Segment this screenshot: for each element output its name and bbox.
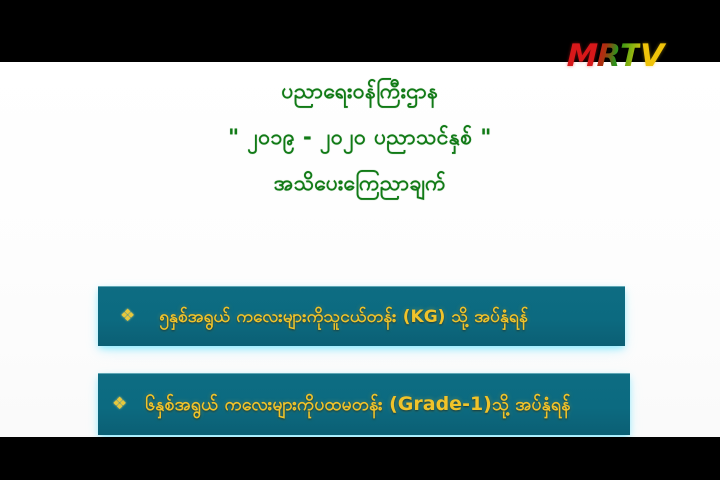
- logo-letter-t: T: [619, 41, 640, 72]
- announcement-heading: ပညာရေးဝန်ကြီးဌာန " ၂၀၁၉ - ၂၀၂၀ ပညာသင်နှစ…: [0, 76, 720, 198]
- heading-line-announcement: အသိပေးကြေညာချက်: [0, 168, 720, 198]
- logo-letter-r: R: [596, 41, 620, 72]
- diamond-bullet-icon: ❖: [120, 308, 135, 325]
- bullet-box-kg: ❖ ၅နှစ်အရွယ် ကလေးများကိုသူငယ်တန်း (KG) သ…: [98, 286, 625, 346]
- bullet-text-kg-before: ၅နှစ်အရွယ် ကလေးများကိုသူငယ်တန်း: [159, 307, 403, 327]
- heading-line-academic-year: " ၂၀၁၉ - ၂၀၂၀ ပညာသင်နှစ် ": [0, 122, 720, 152]
- heading-line-ministry: ပညာရေးဝန်ကြီးဌာန: [0, 76, 720, 106]
- bullet-text-grade1-after: သို့ အပ်နှံရန်: [492, 395, 571, 415]
- mrtv-channel-logo: MRTV: [566, 41, 663, 72]
- diamond-bullet-icon: ❖: [112, 396, 127, 413]
- logo-letter-v: V: [639, 41, 663, 72]
- slide-canvas: ပညာရေးဝန်ကြီးဌာန " ၂၀၁၉ - ၂၀၂၀ ပညာသင်နှစ…: [0, 62, 720, 437]
- logo-letter-m: M: [566, 41, 597, 72]
- bullet-label-kg: (KG): [403, 307, 446, 327]
- bullet-text-grade1: ၆နှစ်အရွယ် ကလေးများကိုပထမတန်း (Grade-1)သ…: [127, 392, 630, 417]
- video-frame: ပညာရေးဝန်ကြီးဌာန " ၂၀၁၉ - ၂၀၂၀ ပညာသင်နှစ…: [0, 0, 720, 480]
- letterbox-bar-bottom: [0, 437, 720, 480]
- bullet-label-grade1: (Grade-1): [389, 393, 492, 415]
- bullet-text-kg-after: သို့ အပ်နှံရန်: [445, 307, 528, 327]
- bullet-text-grade1-before: ၆နှစ်အရွယ် ကလေးများကိုပထမတန်း: [145, 395, 389, 415]
- bullet-box-grade1: ❖ ၆နှစ်အရွယ် ကလေးများကိုပထမတန်း (Grade-1…: [98, 373, 630, 435]
- bullet-text-kg: ၅နှစ်အရွယ် ကလေးများကိုသူငယ်တန်း (KG) သို…: [135, 305, 625, 329]
